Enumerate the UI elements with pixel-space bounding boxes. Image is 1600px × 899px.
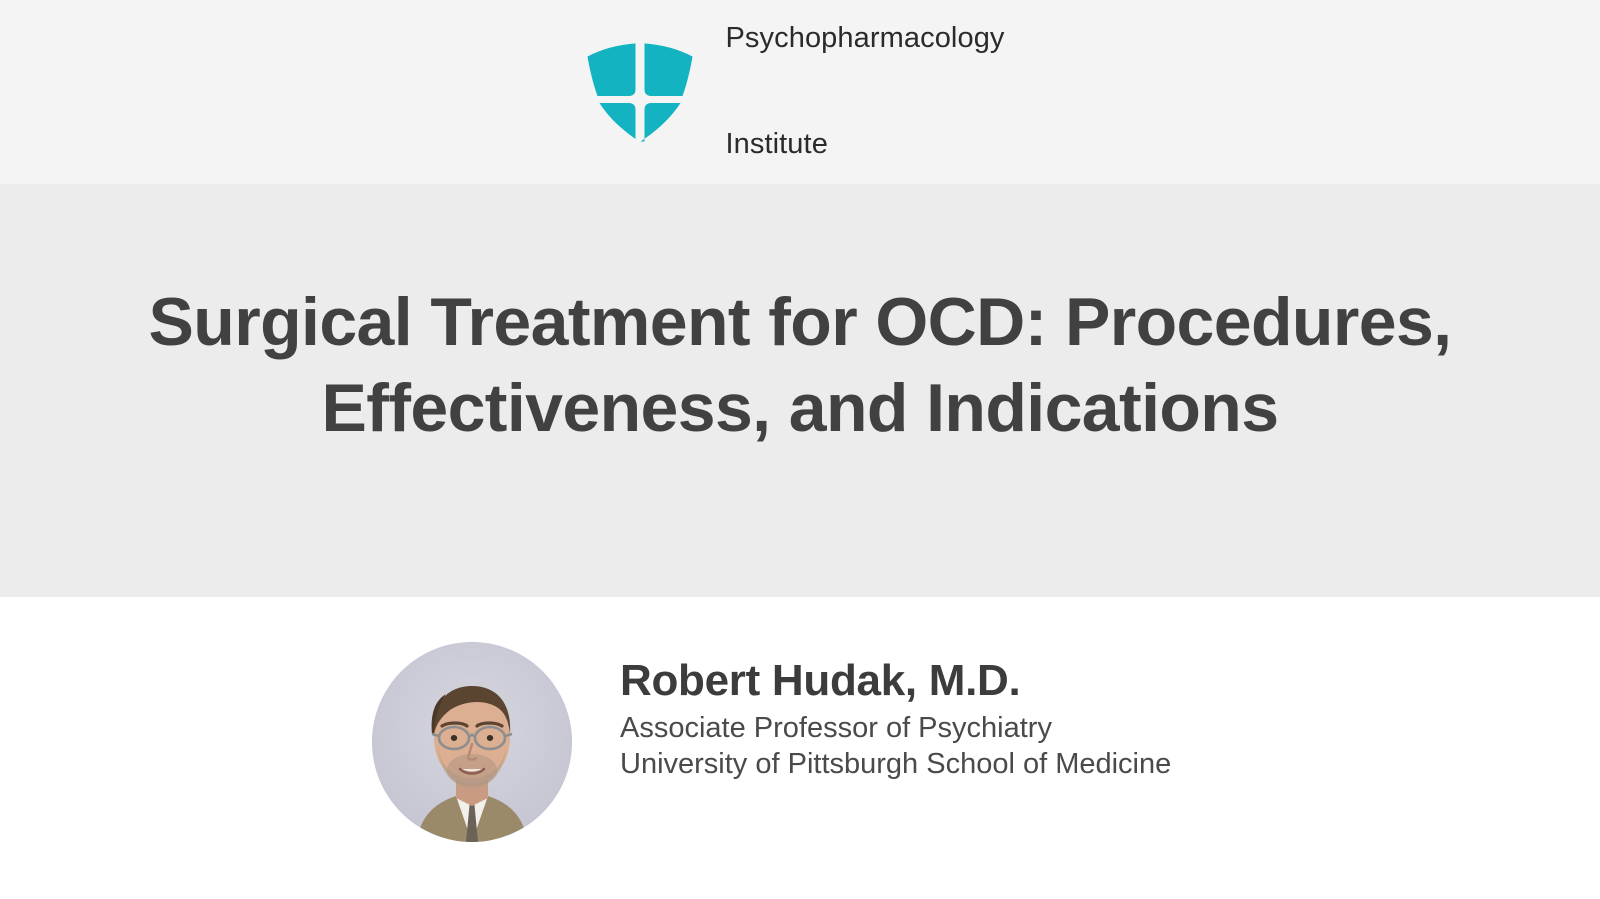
title-slide: Psychopharmacology Institute Surgical Tr… [0, 0, 1600, 899]
presenter-section: Robert Hudak, M.D. Associate Professor o… [0, 597, 1600, 899]
title-section: Surgical Treatment for OCD: Procedures, … [0, 184, 1600, 597]
title-container: Surgical Treatment for OCD: Procedures, … [135, 280, 1465, 451]
brand-name-line-1: Psychopharmacology [725, 21, 1004, 56]
brand-header: Psychopharmacology Institute [0, 0, 1600, 184]
page-title: Surgical Treatment for OCD: Procedures, … [135, 280, 1465, 451]
presenter-affiliation: Associate Professor of Psychiatry Univer… [620, 711, 1171, 782]
presenter-affiliation-line-1: Associate Professor of Psychiatry [620, 711, 1171, 746]
avatar [372, 642, 572, 842]
presenter-row: Robert Hudak, M.D. Associate Professor o… [372, 642, 1171, 842]
brand-name-line-2: Institute [725, 127, 1004, 162]
page-title-line-1: Surgical Treatment for OCD: Procedures, [149, 284, 1452, 360]
presenter-details: Robert Hudak, M.D. Associate Professor o… [620, 642, 1171, 782]
page-title-line-2: Effectiveness, and Indications [322, 370, 1279, 446]
presenter-affiliation-line-2: University of Pittsburgh School of Medic… [620, 747, 1171, 782]
shield-quadrant-icon [585, 40, 695, 144]
presenter-name: Robert Hudak, M.D. [620, 656, 1171, 705]
